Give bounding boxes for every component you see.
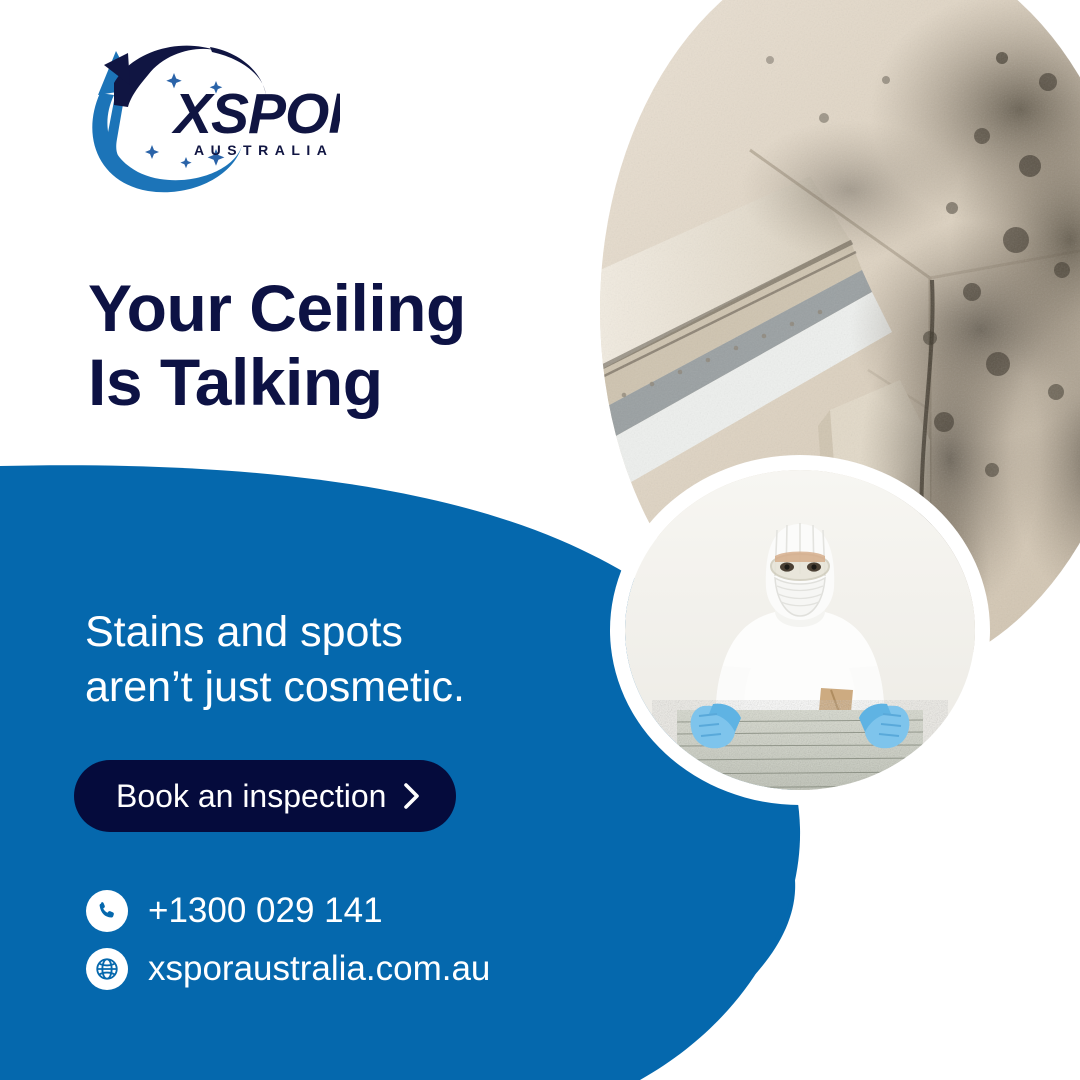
- phone-number: +1300 029 141: [148, 891, 383, 931]
- phone-icon: [86, 890, 128, 932]
- logo-wordmark: XSPOR: [171, 82, 340, 146]
- mold-technician-photo: [625, 470, 975, 790]
- globe-icon: [86, 948, 128, 990]
- website-url: xsporaustralia.com.au: [148, 949, 490, 989]
- social-media-poster: XSPOR AUSTRALIA: [0, 0, 1080, 1080]
- contact-website[interactable]: xsporaustralia.com.au: [86, 948, 490, 990]
- brand-logo[interactable]: XSPOR AUSTRALIA: [70, 33, 340, 193]
- subheading: Stains and spots aren’t just cosmetic.: [85, 605, 645, 715]
- chevron-right-icon: [402, 782, 422, 810]
- cta-label: Book an inspection: [116, 778, 386, 815]
- logo-region: AUSTRALIA: [194, 142, 333, 158]
- book-an-inspection-button[interactable]: Book an inspection: [74, 760, 456, 832]
- page-title: Your Ceiling Is Talking: [88, 272, 608, 420]
- contact-phone[interactable]: +1300 029 141: [86, 890, 383, 932]
